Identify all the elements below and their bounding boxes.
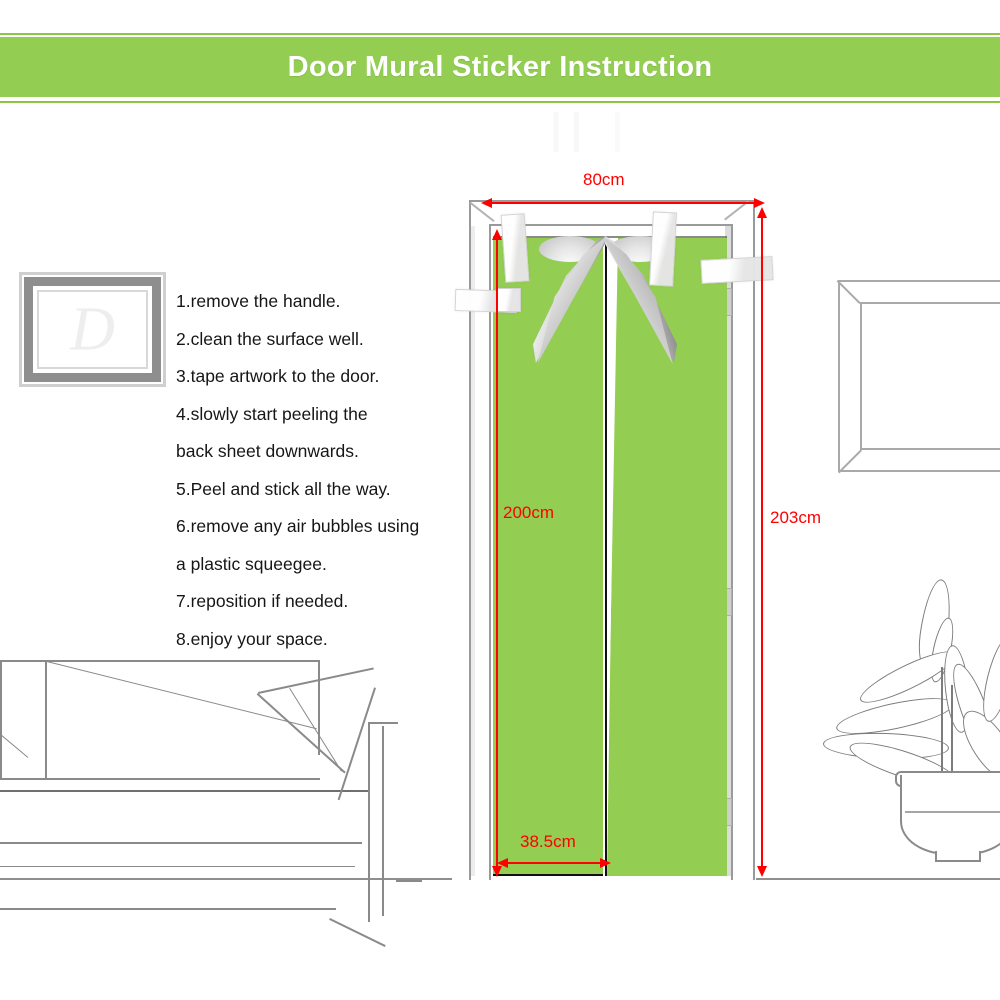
sofa-line: [0, 908, 336, 910]
sofa-line: [329, 918, 385, 947]
sofa-line: [368, 722, 370, 922]
arrow-head-left: [497, 858, 508, 868]
instruction-line: 7.reposition if needed.: [176, 583, 476, 621]
wall-picture-frame-right: [838, 280, 1000, 472]
tape-strip: [501, 213, 530, 283]
sofa-line: [0, 790, 368, 792]
arrow-head-up: [757, 207, 767, 218]
instruction-line: 3.tape artwork to the door.: [176, 358, 476, 396]
sofa-line: [318, 660, 320, 755]
sofa-line: [45, 660, 47, 778]
potted-plant-illustration: [795, 575, 1000, 885]
sofa-line: [382, 726, 384, 916]
dimension-label-panel-width: 38.5cm: [520, 832, 576, 852]
dimension-label-door-height: 203cm: [770, 508, 821, 528]
plant-pot-base: [935, 851, 981, 862]
instruction-line: back sheet downwards.: [176, 433, 476, 471]
tape-strip: [497, 288, 521, 312]
wall-picture-frame-left: D: [19, 272, 166, 387]
sofa-line: [0, 842, 362, 844]
banner-fill: Door Mural Sticker Instruction: [0, 37, 1000, 97]
sofa-line: [396, 880, 422, 882]
arrow-head-left: [481, 198, 492, 208]
dimension-arrow-sticker-height: [496, 240, 498, 866]
arrow-head-down: [757, 866, 767, 877]
plant-pot: [900, 775, 1000, 855]
sofa-line: [0, 778, 320, 780]
sofa-pillow-line: [257, 693, 346, 773]
dimension-label-width: 80cm: [583, 170, 625, 190]
arrow-head-right: [600, 858, 611, 868]
dimension-arrow-panel-width: [508, 862, 600, 864]
sofa-pillow-line: [258, 667, 374, 693]
instruction-poster: Door Mural Sticker Instruction D 1.remov…: [0, 0, 1000, 1000]
door-illustration: [455, 198, 755, 880]
peel-curl-left: [533, 236, 605, 368]
instruction-line: 4.slowly start peeling the: [176, 396, 476, 434]
tape-strip: [649, 211, 677, 286]
tape-sheen: [502, 214, 529, 281]
plant-pot-band: [905, 811, 1000, 813]
instruction-line: 1.remove the handle.: [176, 283, 476, 321]
plant-stem: [941, 667, 943, 779]
sticker-bottom-edge: [493, 874, 603, 876]
instruction-list: 1.remove the handle. 2.clean the surface…: [176, 283, 476, 658]
frame-letter: D: [19, 294, 166, 365]
plant-stem: [951, 685, 953, 781]
dimension-arrow-width: [492, 202, 754, 204]
sofa-line: [47, 661, 317, 730]
dimension-label-sticker-height: 200cm: [503, 503, 554, 523]
tape-sheen: [498, 289, 520, 311]
banner-rule-bottom: [0, 101, 1000, 103]
header-banner: Door Mural Sticker Instruction: [0, 33, 1000, 103]
sofa-line: [0, 866, 355, 867]
banner-rule-top: [0, 33, 1000, 35]
sofa-line: [0, 660, 2, 780]
instruction-line: a plastic squeegee.: [176, 546, 476, 584]
door-frame-shadow-left: [471, 226, 475, 876]
sofa-pillow-line: [338, 688, 376, 801]
arrow-head-up: [492, 229, 502, 240]
instruction-line: 6.remove any air bubbles using: [176, 508, 476, 546]
sofa-line: [0, 725, 28, 758]
instruction-line: 2.clean the surface well.: [176, 321, 476, 359]
sofa-line: [368, 722, 398, 724]
sofa-illustration: [0, 630, 420, 940]
page-title: Door Mural Sticker Instruction: [288, 51, 713, 84]
frame-inner-border: [860, 302, 1000, 450]
dimension-arrow-door-height: [761, 218, 763, 866]
instruction-line: 5.Peel and stick all the way.: [176, 471, 476, 509]
peel-curl-underside: [533, 236, 605, 368]
watermark-ghost: [540, 112, 710, 152]
tape-sheen: [650, 212, 676, 285]
